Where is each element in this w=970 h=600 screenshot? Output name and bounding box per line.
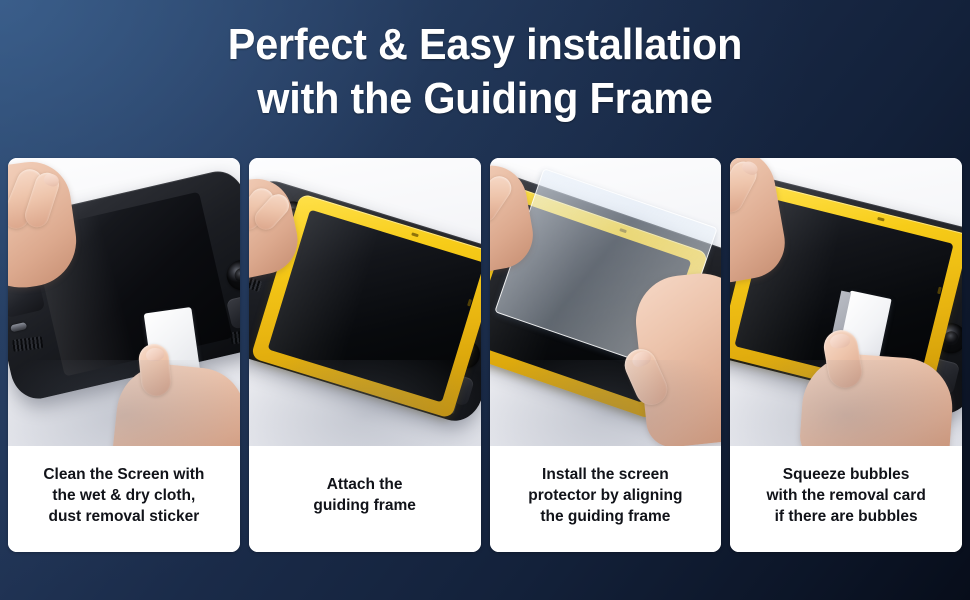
step-card-3[interactable]: Install the screen protector by aligning… [490,158,722,552]
frame-notch-top [411,232,419,237]
step-3-scene [490,158,722,446]
step-1-photo [8,158,240,446]
step-3-caption: Install the screen protector by aligning… [490,446,722,552]
step-card-1[interactable]: Clean the Screen with the wet & dry clot… [8,158,240,552]
step-1-scene [8,158,240,446]
step-2-caption: Attach the guiding frame [249,446,481,552]
step-2-scene [249,158,481,446]
step-4-photo [730,158,962,446]
promo-banner: Perfect & Easy installation with the Gui… [0,0,970,600]
step-2-photo [249,158,481,446]
step-card-4[interactable]: Squeeze bubbles with the removal card if… [730,158,962,552]
frame-notch-top [877,217,885,222]
step-4-caption: Squeeze bubbles with the removal card if… [730,446,962,552]
step-3-photo [490,158,722,446]
step-card-2[interactable]: Attach the guiding frame [249,158,481,552]
step-1-caption: Clean the Screen with the wet & dry clot… [8,446,240,552]
page-title: Perfect & Easy installation with the Gui… [29,18,941,126]
steps-row: Clean the Screen with the wet & dry clot… [8,158,962,552]
step-4-scene [730,158,962,446]
